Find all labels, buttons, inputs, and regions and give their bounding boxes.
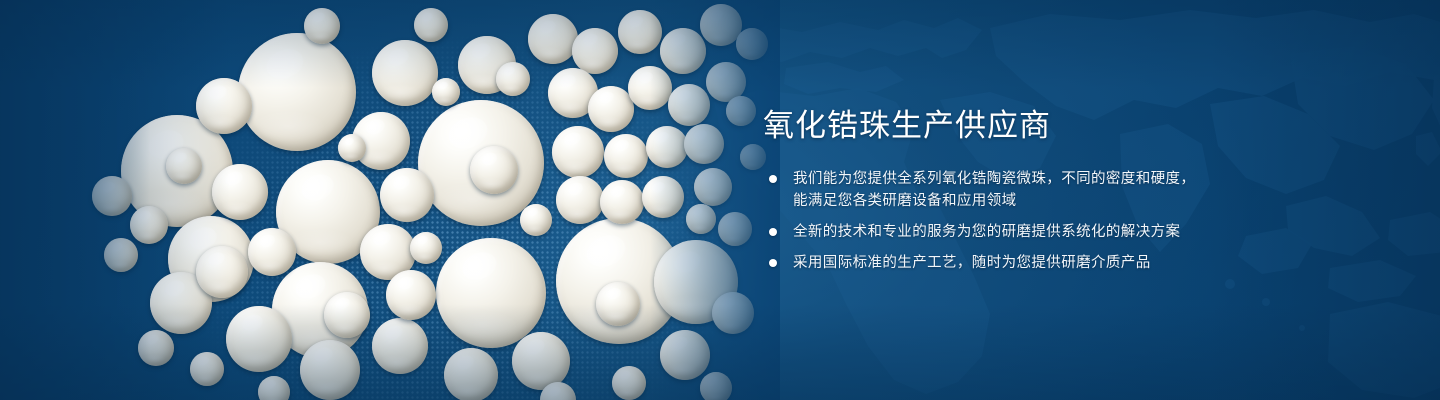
dot-bullet-icon xyxy=(769,175,777,183)
dot-bullet-icon xyxy=(769,259,777,267)
dot-bullet-icon xyxy=(769,228,777,236)
list-item: 采用国际标准的生产工艺，随时为您提供研磨介质产品 xyxy=(763,252,1403,274)
feature-text-line1: 全新的技术和专业的服务为您的研磨提供系统化的解决方案 xyxy=(793,224,1180,240)
page-title: 氧化锆珠生产供应商 xyxy=(763,106,1403,146)
feature-text-line2: 能满足您各类研磨设备和应用领域 xyxy=(793,190,1403,212)
feature-text-line1: 采用国际标准的生产工艺，随时为您提供研磨介质产品 xyxy=(793,255,1151,271)
hero-banner: 氧化锆珠生产供应商 我们能为您提供全系列氧化锆陶瓷微珠，不同的密度和硬度， 能满… xyxy=(0,0,1440,400)
list-item: 全新的技术和专业的服务为您的研磨提供系统化的解决方案 xyxy=(763,221,1403,243)
list-item: 我们能为您提供全系列氧化锆陶瓷微珠，不同的密度和硬度， 能满足您各类研磨设备和应… xyxy=(763,168,1403,212)
feature-list: 我们能为您提供全系列氧化锆陶瓷微珠，不同的密度和硬度， 能满足您各类研磨设备和应… xyxy=(763,168,1403,274)
feature-text-line1: 我们能为您提供全系列氧化锆陶瓷微珠，不同的密度和硬度， xyxy=(793,171,1195,187)
banner-content: 氧化锆珠生产供应商 我们能为您提供全系列氧化锆陶瓷微珠，不同的密度和硬度， 能满… xyxy=(763,106,1403,274)
